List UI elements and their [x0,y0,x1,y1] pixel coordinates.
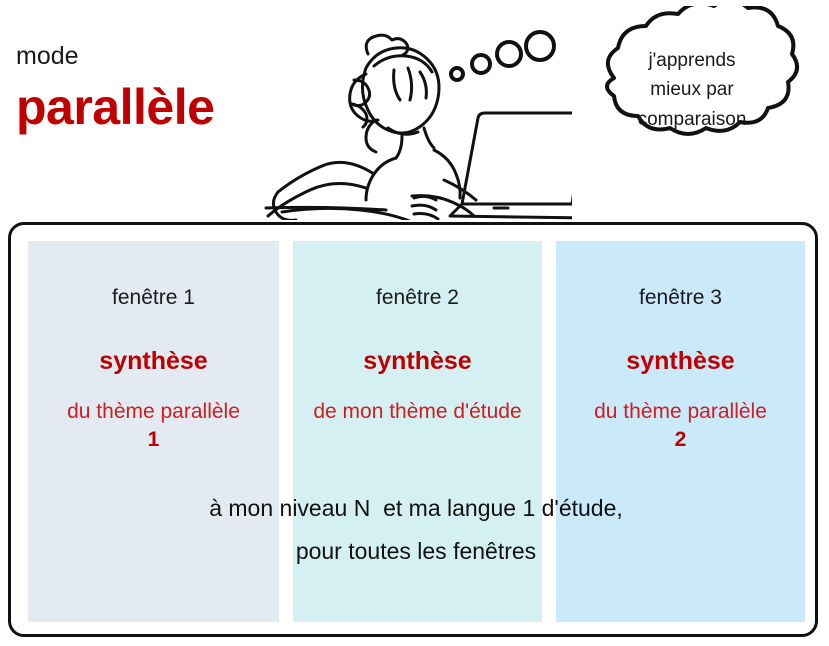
thought-trail-dot-1 [451,68,463,80]
panel-1-number: 1 [28,426,279,454]
panels-row: fenêtre 1 synthèse du thème parallèle 1 … [11,225,815,634]
windows-container: fenêtre 1 synthèse du thème parallèle 1 … [8,222,818,637]
panel-2-content: fenêtre 2 synthèse de mon thème d'étude [293,241,542,426]
thought-trail-dot-3 [497,42,521,66]
panel-2-synthese-title: synthèse [293,349,542,374]
thought-trail-dot-2 [472,55,490,73]
panel-3-synthese-title: synthèse [556,349,805,374]
mode-title: parallèle [16,82,214,132]
thought-bubble: j'apprends mieux par comparaison [560,6,824,174]
panel-2-description: de mon thème d'étude [293,398,542,426]
panel-3-description: du thème parallèle [556,398,805,426]
panel-1-description: du thème parallèle [28,398,279,426]
panel-3-window-label: fenêtre 3 [556,287,805,308]
thought-trail-dot-4 [526,32,554,60]
panel-3-content: fenêtre 3 synthèse du thème parallèle 2 [556,241,805,455]
panel-fenetre-1[interactable]: fenêtre 1 synthèse du thème parallèle 1 [28,241,279,622]
panel-1-content: fenêtre 1 synthèse du thème parallèle 1 [28,241,279,455]
mode-label: mode [16,44,79,69]
panel-fenetre-3[interactable]: fenêtre 3 synthèse du thème parallèle 2 [556,241,805,622]
panel-1-window-label: fenêtre 1 [28,287,279,308]
panel-fenetre-2[interactable]: fenêtre 2 synthèse de mon thème d'étude [293,241,542,622]
panel-3-number: 2 [556,426,805,454]
panel-1-synthese-title: synthèse [28,349,279,374]
header-area: mode parallèle [0,0,829,218]
panel-2-window-label: fenêtre 2 [293,287,542,308]
